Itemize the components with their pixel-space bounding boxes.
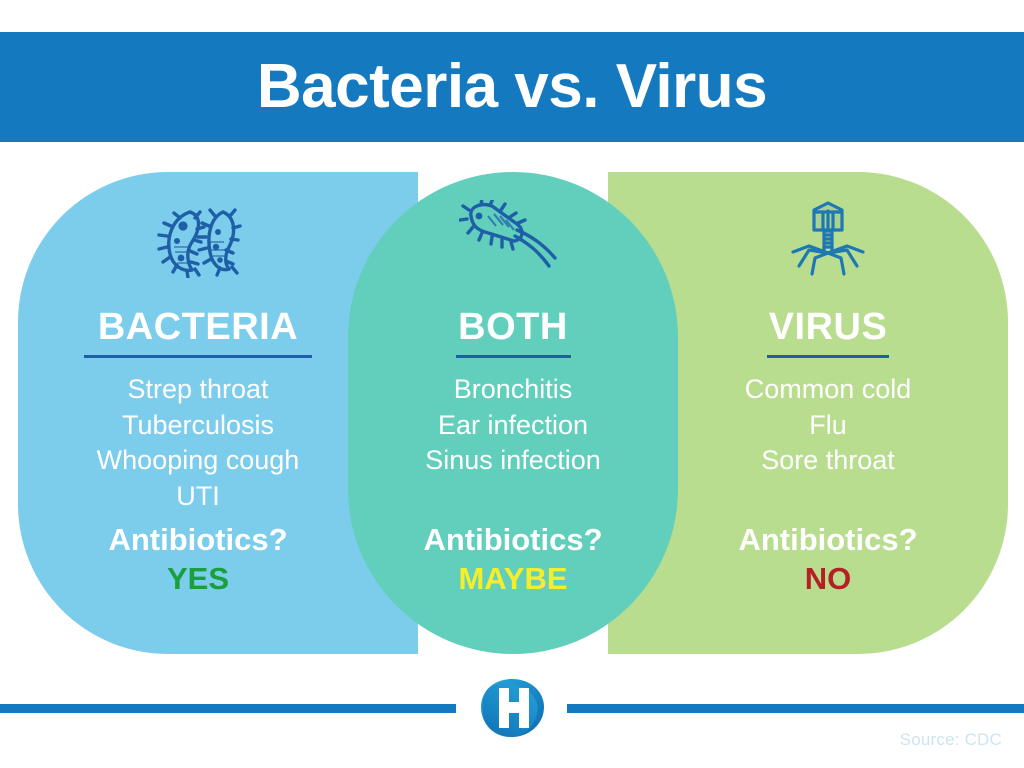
column-heading-both: BOTH	[348, 308, 678, 348]
list-item: Bronchitis	[348, 372, 678, 408]
heading-rule	[767, 355, 889, 358]
list-item: Sinus infection	[348, 443, 678, 479]
illness-list-both: Bronchitis Ear infection Sinus infection	[348, 372, 678, 479]
column-heading-bacteria: BACTERIA	[33, 308, 363, 348]
heading-rule	[84, 355, 312, 358]
comparison-panels: BACTERIA Strep throat Tuberculosis Whoop…	[0, 172, 1024, 654]
footer-divider-left	[0, 704, 456, 713]
list-item: UTI	[33, 479, 363, 515]
list-item: Strep throat	[33, 372, 363, 408]
bacteriophage-icon	[663, 172, 993, 286]
list-item: Common cold	[663, 372, 993, 408]
h-globe-logo	[472, 675, 552, 741]
list-item: Whooping cough	[33, 443, 363, 479]
bacteria-rods-icon	[33, 172, 363, 286]
panel-both-content: BOTH Bronchitis Ear infection Sinus infe…	[348, 172, 678, 654]
list-item: Ear infection	[348, 408, 678, 444]
antibiotics-answer-yes: YES	[33, 561, 363, 598]
header-band: Bacteria vs. Virus	[0, 32, 1024, 142]
illness-list-bacteria: Strep throat Tuberculosis Whooping cough…	[33, 372, 363, 515]
panel-bacteria-content: BACTERIA Strep throat Tuberculosis Whoop…	[33, 172, 363, 654]
list-item: Tuberculosis	[33, 408, 363, 444]
antibiotics-block-both: Antibiotics? MAYBE	[348, 522, 678, 597]
antibiotics-block-virus: Antibiotics? NO	[663, 522, 993, 597]
panel-both: BOTH Bronchitis Ear infection Sinus infe…	[348, 172, 678, 654]
list-item: Flu	[663, 408, 993, 444]
antibiotics-label: Antibiotics?	[663, 522, 993, 559]
panel-virus-content: VIRUS Common cold Flu Sore throat Antibi…	[663, 172, 993, 654]
footer: Source: CDC	[0, 654, 1024, 768]
antibiotics-label: Antibiotics?	[33, 522, 363, 559]
illness-list-virus: Common cold Flu Sore throat	[663, 372, 993, 479]
antibiotics-label: Antibiotics?	[348, 522, 678, 559]
antibiotics-answer-no: NO	[663, 561, 993, 598]
flagellated-bacterium-icon	[348, 172, 678, 286]
footer-divider-right	[567, 704, 1024, 713]
heading-rule	[456, 355, 571, 358]
page-title: Bacteria vs. Virus	[257, 56, 767, 118]
column-heading-virus: VIRUS	[663, 308, 993, 348]
list-item: Sore throat	[663, 443, 993, 479]
antibiotics-block-bacteria: Antibiotics? YES	[33, 522, 363, 597]
source-label: Source: CDC	[900, 730, 1002, 750]
antibiotics-answer-maybe: MAYBE	[348, 561, 678, 598]
